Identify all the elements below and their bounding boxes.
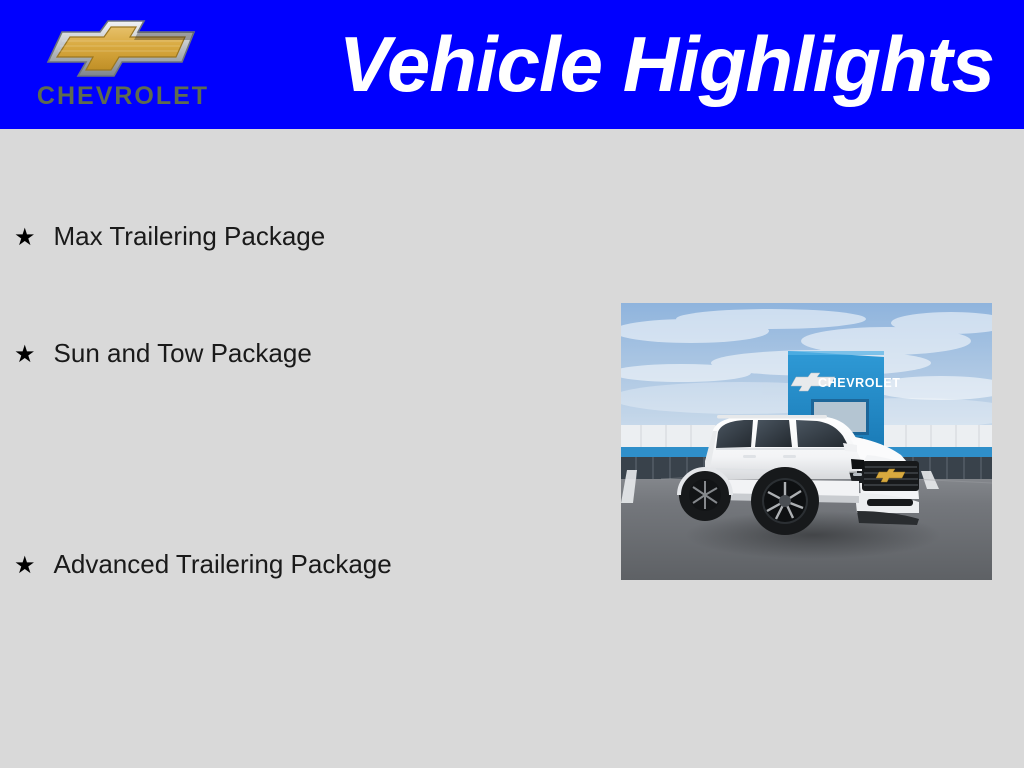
slide-content: ★ Max Trailering Package ★ Sun and Tow P… [0, 129, 1024, 768]
list-item: ★ Max Trailering Package [14, 129, 614, 340]
highlight-label: Max Trailering Package [54, 223, 326, 249]
highlight-label: Advanced Trailering Package [54, 551, 392, 577]
chevrolet-logo: CHEVROLET [22, 14, 218, 117]
highlight-label: Sun and Tow Package [54, 340, 312, 366]
list-item: ★ Sun and Tow Package [14, 340, 614, 551]
rear-wheel [879, 475, 935, 531]
vehicle-photo: PHELPS CHEVROLET [621, 303, 992, 580]
list-item: ★ Advanced Trailering Package [14, 551, 614, 762]
star-bullet-icon: ★ [14, 343, 36, 367]
vehicle-highlights-list: ★ Max Trailering Package ★ Sun and Tow P… [14, 129, 614, 762]
dealership-brand-sign: CHEVROLET [818, 376, 901, 390]
chevrolet-bowtie-icon [22, 14, 218, 84]
front-wheel [751, 467, 819, 535]
chevrolet-wordmark: CHEVROLET [28, 84, 218, 109]
star-bullet-icon: ★ [14, 226, 36, 250]
star-bullet-icon: ★ [14, 554, 36, 578]
page-header: Vehicle Highlights [0, 0, 1024, 129]
